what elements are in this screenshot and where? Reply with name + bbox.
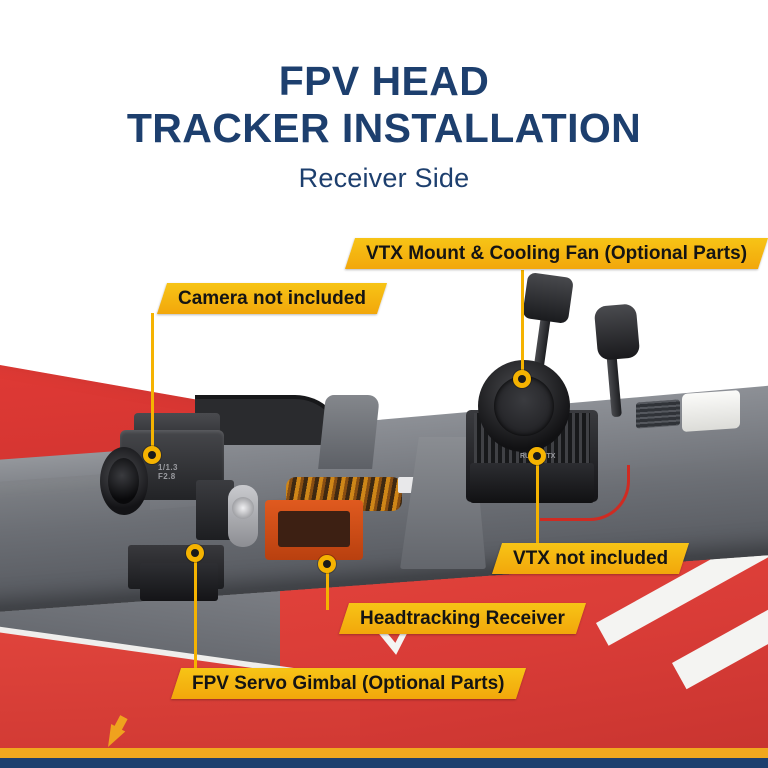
leader-dot-vtx: [528, 447, 546, 465]
camera-lens-spec-line-2: F2.8: [158, 472, 178, 481]
header: FPV HEAD TRACKER INSTALLATION Receiver S…: [0, 0, 768, 215]
page-subtitle: Receiver Side: [0, 163, 768, 194]
page-title-line-1: FPV HEAD: [0, 58, 768, 105]
callout-label-vtx: VTX not included: [513, 543, 668, 574]
callout-banner-headtracking-rx[interactable]: Headtracking Receiver: [339, 603, 586, 634]
antenna-2-cap: [594, 303, 641, 360]
callout-label-camera: Camera not included: [178, 283, 366, 314]
camera-lens-glass: [108, 458, 139, 504]
leader-line-vtx: [536, 456, 539, 546]
callout-banner-vtx-mount-fan[interactable]: VTX Mount & Cooling Fan (Optional Parts): [345, 238, 768, 269]
mounting-pad-top: [682, 390, 740, 432]
callout-banner-vtx[interactable]: VTX not included: [492, 543, 689, 574]
deck-vent-grille: [636, 399, 680, 428]
leader-line-vtx-mount-fan: [521, 270, 524, 382]
small-fin: [318, 395, 380, 469]
camera-lens-spec-line-1: 1/1.3: [158, 463, 178, 472]
antenna-1-cap: [522, 272, 574, 324]
page-title-line-2: TRACKER INSTALLATION: [0, 105, 768, 152]
leader-dot-vtx-mount-fan: [513, 370, 531, 388]
footer-navy-bar: [0, 758, 768, 768]
camera-lens-spec: 1/1.3 F2.8: [158, 463, 178, 481]
callout-label-servo-gimbal: FPV Servo Gimbal (Optional Parts): [192, 668, 505, 699]
leader-line-headtracking-rx: [326, 570, 329, 610]
leader-dot-servo-gimbal: [186, 544, 204, 562]
gimbal-lower-servo: [140, 563, 218, 601]
callout-banner-servo-gimbal[interactable]: FPV Servo Gimbal (Optional Parts): [171, 668, 526, 699]
gimbal-servo-horn: [232, 497, 254, 519]
leader-line-camera: [151, 313, 154, 458]
headtracking-receiver-board: [278, 511, 350, 547]
callout-label-vtx-mount-fan: VTX Mount & Cooling Fan (Optional Parts): [366, 238, 747, 269]
callout-label-headtracking-rx: Headtracking Receiver: [360, 603, 565, 634]
leader-dot-headtracking-rx: [318, 555, 336, 573]
leader-line-servo-gimbal: [194, 558, 197, 678]
leader-dot-camera: [143, 446, 161, 464]
footer-gold-bar: [0, 748, 768, 758]
callout-banner-camera[interactable]: Camera not included: [157, 283, 387, 314]
infographic-canvas: FPV HEAD TRACKER INSTALLATION Receiver S…: [0, 0, 768, 768]
